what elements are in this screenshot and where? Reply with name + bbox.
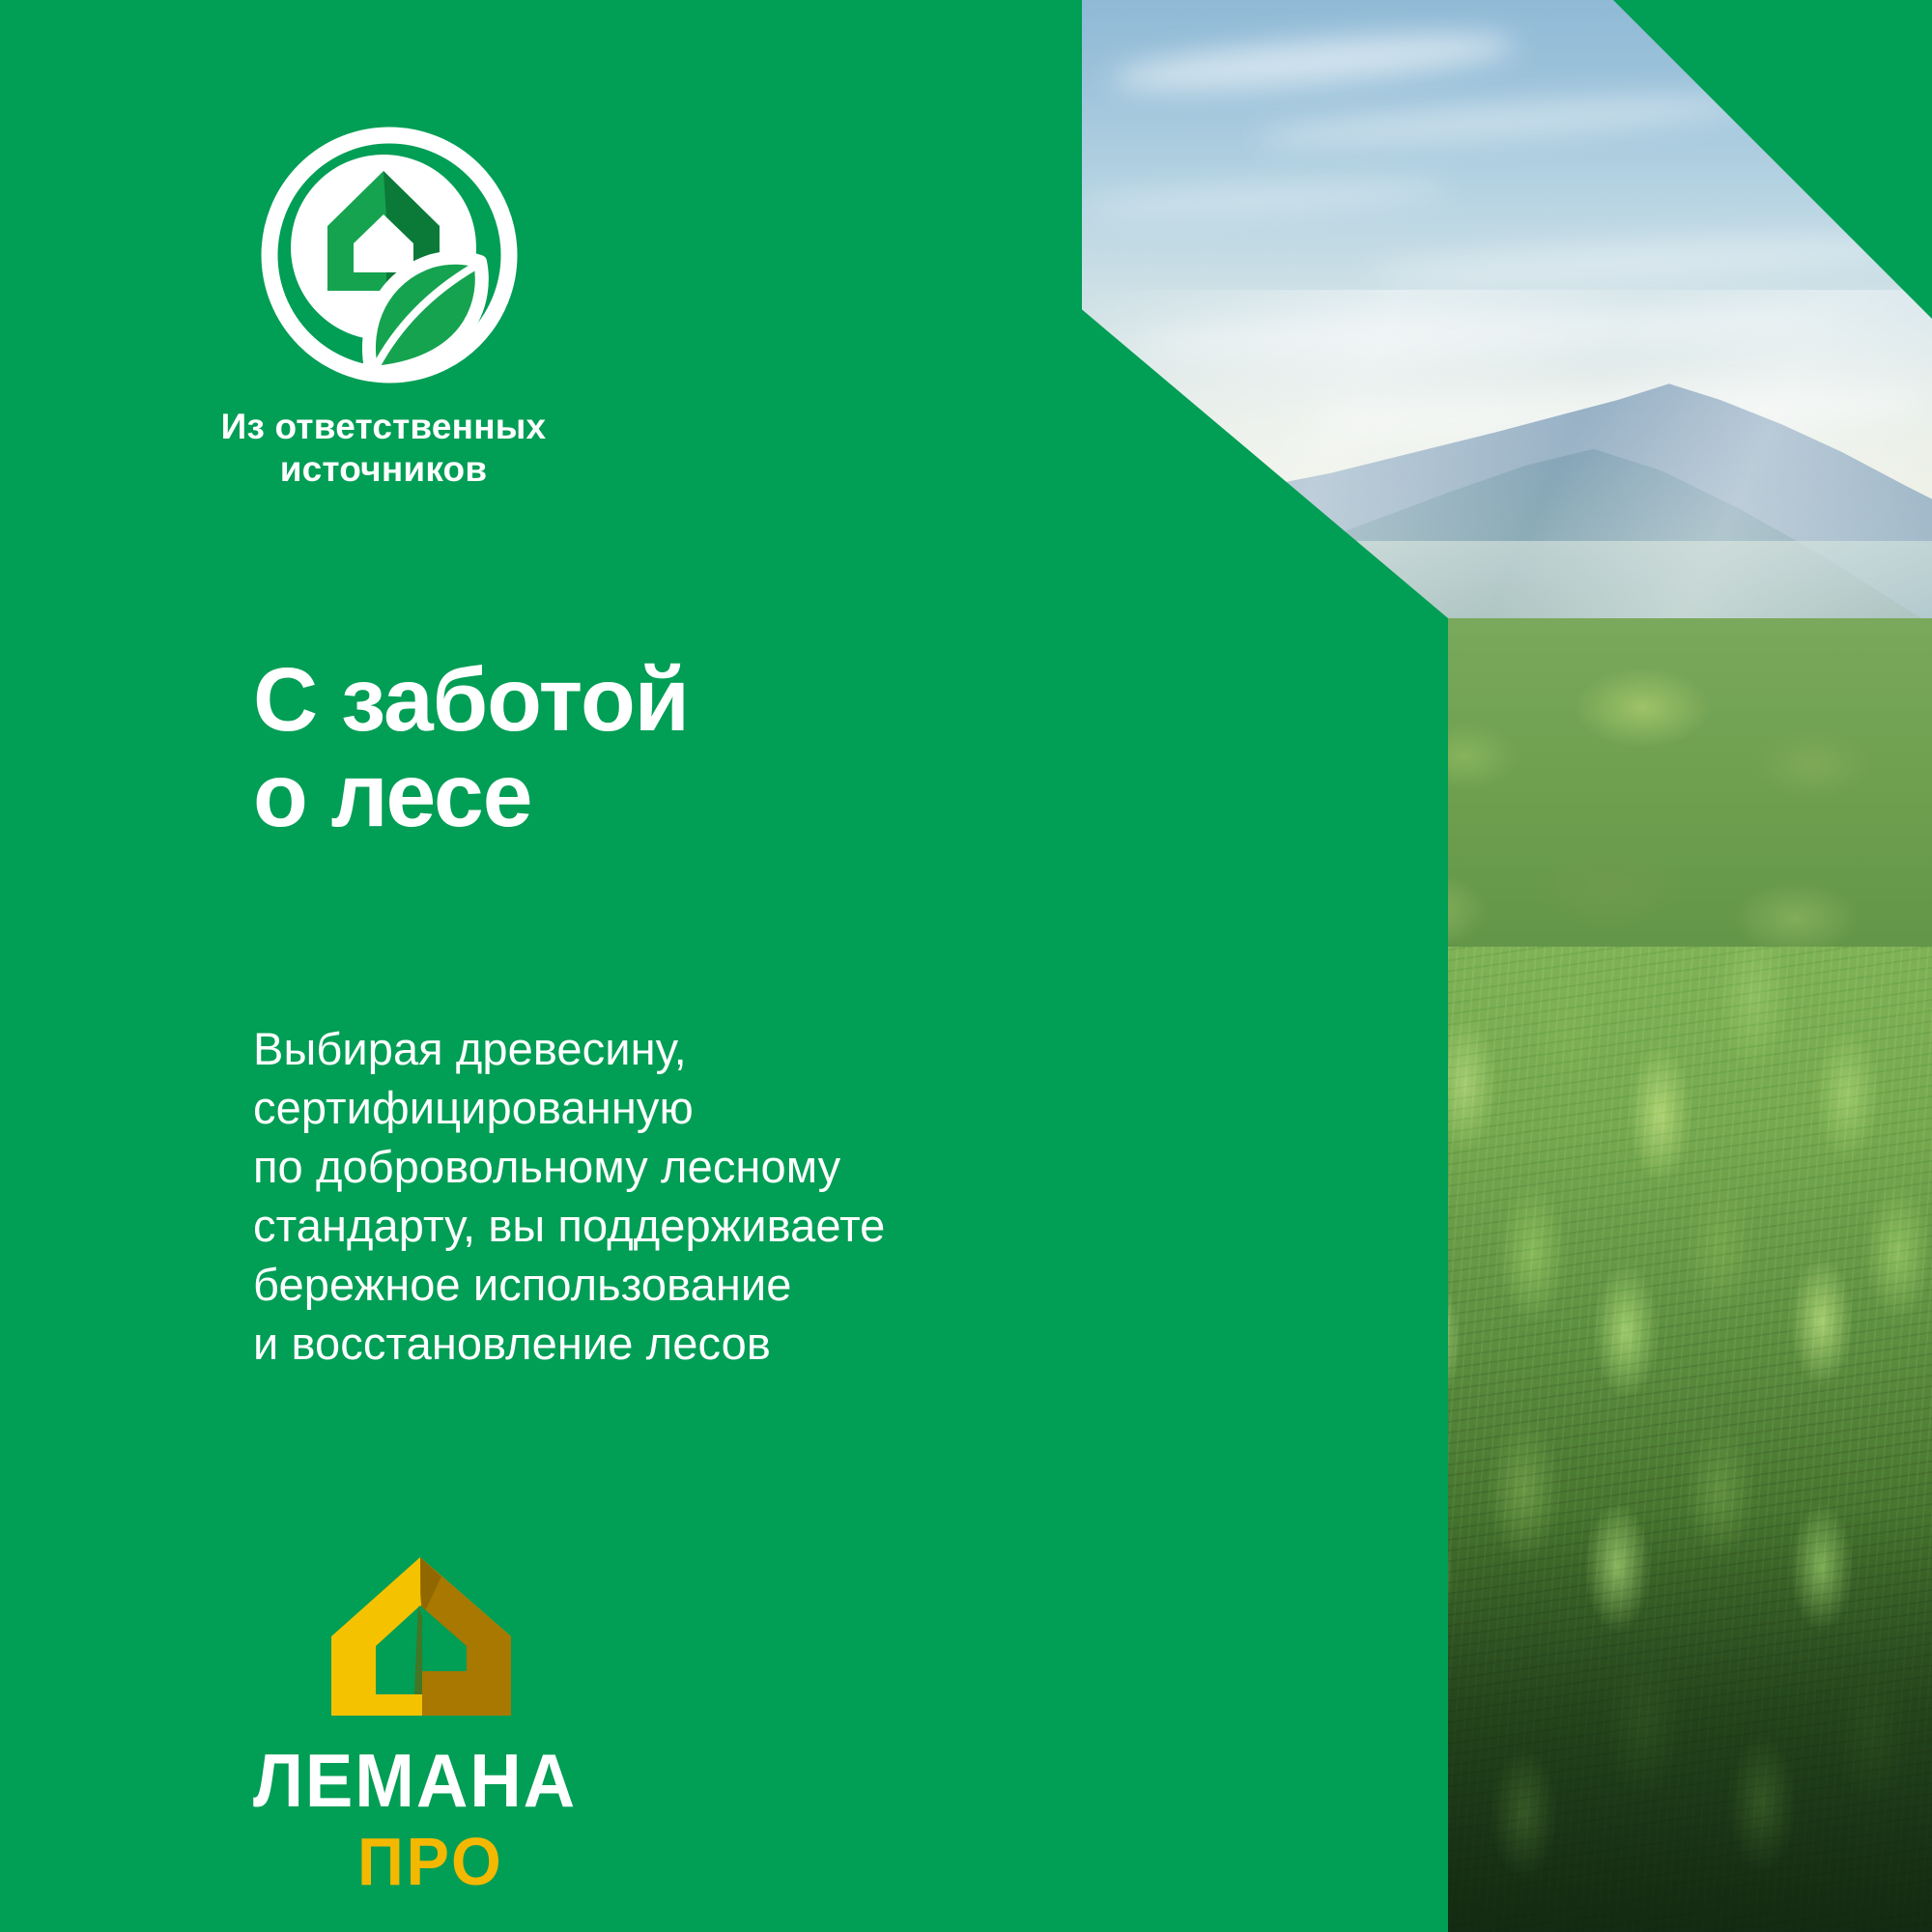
eco-badge-caption-line1: Из ответственных: [221, 407, 547, 446]
body-paragraph: Выбирая древесину, сертифицированную по …: [253, 1019, 885, 1374]
page-title: С заботой о лесе: [253, 652, 689, 842]
lemana-house-icon: [326, 1555, 515, 1718]
brand-sub-wordmark: ПРО: [357, 1828, 625, 1895]
content-layer: Из ответственныхисточников С заботой о л…: [0, 0, 1449, 1932]
eco-badge-caption-line2: источников: [280, 449, 488, 489]
brand-logo: ЛЕМАНА ПРО: [253, 1555, 639, 1895]
brand-wordmark: ЛЕМАНА: [253, 1743, 620, 1818]
eco-badge-caption: Из ответственныхисточников: [190, 406, 577, 490]
eco-house-leaf-circle-icon: [260, 126, 519, 384]
poster-canvas: Из ответственныхисточников С заботой о л…: [0, 0, 1932, 1932]
eco-badge: Из ответственныхисточников: [246, 126, 652, 490]
